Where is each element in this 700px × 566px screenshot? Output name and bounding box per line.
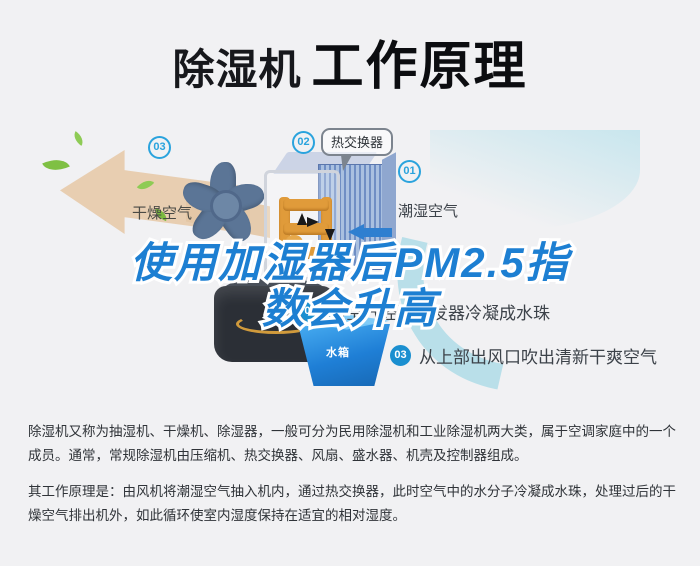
legend-step-02: 02 湿空气经过蒸发器冷凝成水珠 bbox=[300, 299, 550, 324]
legend-step-02-text: 湿空气经过蒸发器冷凝成水珠 bbox=[329, 299, 550, 324]
flow-arrow-up-icon bbox=[297, 213, 307, 225]
body-paragraph-2: 其工作原理是：由风机将潮湿空气抽入机内，通过热交换器，此时空气中的水分子冷凝成水… bbox=[28, 480, 676, 528]
page-root: 除湿机工作原理 bbox=[0, 0, 700, 566]
water-tank-icon: 水箱 bbox=[292, 314, 390, 386]
callout-dry-air-label: 干燥空气 bbox=[132, 202, 192, 223]
dehumidifier-diagram: 水箱 01 潮湿空气 03 干燥空气 02 热交换器 02 湿空气经过蒸发器冷凝… bbox=[0, 118, 700, 398]
arrow-shaft bbox=[364, 228, 392, 237]
flow-arrow-right-icon bbox=[307, 217, 319, 227]
badge-03: 03 bbox=[148, 136, 171, 159]
heat-exchanger-side bbox=[382, 152, 396, 263]
callout-heat-exchanger: 02 热交换器 bbox=[292, 128, 393, 156]
leaf-icon bbox=[42, 154, 70, 177]
badge-step-02: 02 bbox=[300, 301, 321, 322]
callout-humid-air-label: 潮湿空气 bbox=[398, 200, 458, 221]
page-title: 除湿机工作原理 bbox=[0, 24, 700, 99]
coil-accumulator bbox=[285, 235, 303, 269]
badge-01: 01 bbox=[398, 160, 421, 183]
callout-dry-air: 03 bbox=[148, 136, 171, 159]
body-paragraph-1: 除湿机又称为抽湿机、干燥机、除湿器，一般可分为民用除湿机和工业除湿机两大类，属于… bbox=[28, 420, 676, 468]
badge-02: 02 bbox=[292, 131, 315, 154]
badge-step-03: 03 bbox=[390, 345, 411, 366]
arrow-head bbox=[348, 224, 364, 240]
air-intake-arrow-icon bbox=[348, 224, 392, 240]
legend-step-03-text: 从上部出风口吹出清新干爽空气 bbox=[419, 343, 657, 368]
callout-heat-exchanger-label: 热交换器 bbox=[321, 128, 393, 156]
legend-step-03: 03 从上部出风口吹出清新干爽空气 bbox=[390, 343, 657, 368]
fan-hub bbox=[210, 190, 242, 222]
refrigerant-circuit bbox=[264, 170, 340, 280]
callout-humid-air: 01 bbox=[398, 160, 421, 183]
leaf-icon bbox=[71, 131, 87, 146]
flow-arrow-down-icon bbox=[325, 229, 335, 241]
page-title-part1: 除湿机 bbox=[172, 46, 301, 93]
page-title-part2: 工作原理 bbox=[312, 38, 528, 96]
coil-pipe bbox=[283, 199, 329, 211]
heat-exchanger-unit bbox=[256, 152, 406, 292]
water-tank-label: 水箱 bbox=[326, 344, 350, 360]
